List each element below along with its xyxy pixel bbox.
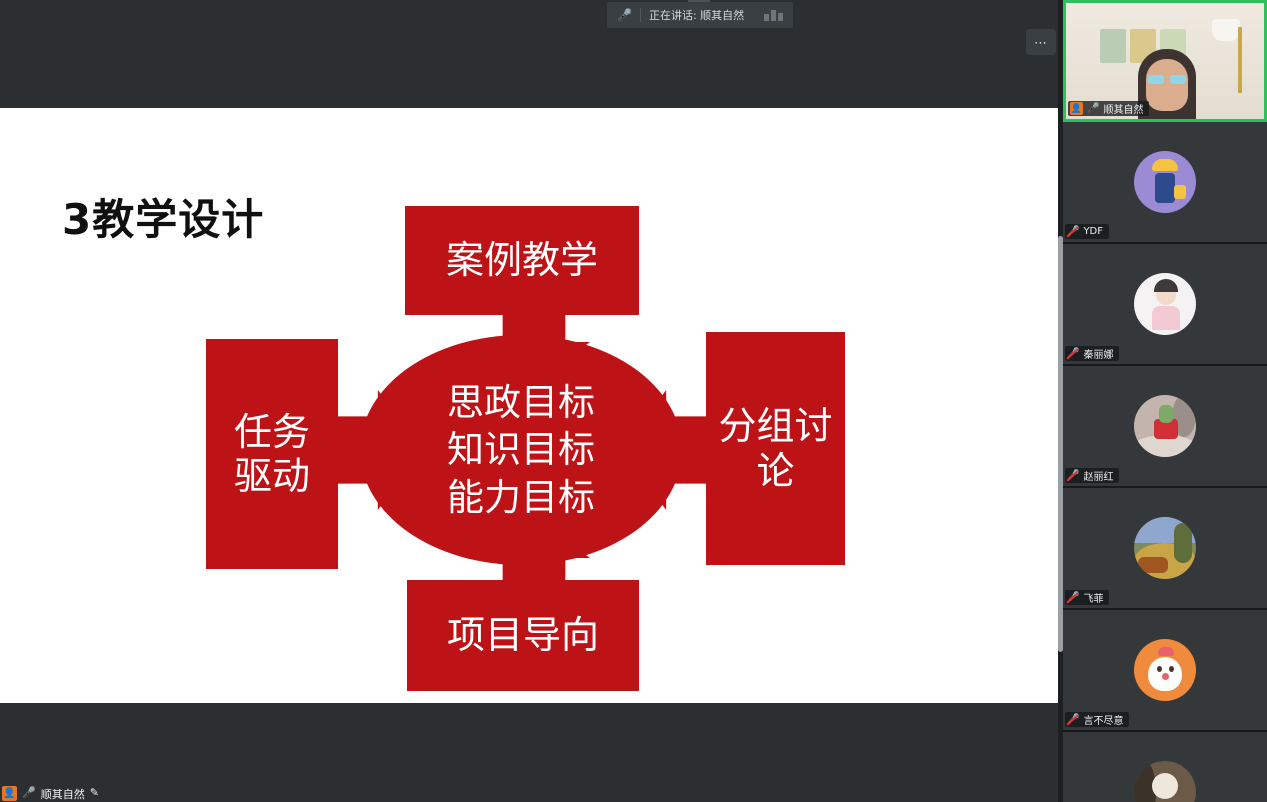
microphone-icon: 🎤 — [617, 9, 632, 21]
speaking-indicator-banner[interactable]: 🎤 正在讲话: 顺其自然 — [607, 2, 793, 28]
diagram-node-top-label: 案例教学 — [446, 238, 598, 282]
participant-tile[interactable]: 🎤 飞菲 — [1063, 488, 1267, 610]
participant-tile[interactable]: 🎤 言不尽意 — [1063, 610, 1267, 732]
participant-name: 言不尽意 — [1083, 712, 1123, 727]
diagram-node-bottom: 项目导向 — [407, 580, 639, 691]
diagram-node-bottom-label: 项目导向 — [447, 613, 599, 657]
diagram-node-top: 案例教学 — [405, 206, 639, 315]
diagram-node-left-label-line1: 任务 — [234, 410, 310, 454]
participant-tile[interactable]: 🎤 YDF — [1063, 122, 1267, 244]
avatar — [1134, 639, 1196, 701]
center-label-line1: 思政目标 — [447, 379, 595, 426]
diagram-node-right-label-line1: 分组讨 — [718, 404, 832, 448]
pencil-icon[interactable]: ✎ — [90, 788, 99, 799]
microphone-icon[interactable]: 🎤 — [22, 788, 36, 799]
participant-name-chip: 🎤 YDF — [1065, 224, 1109, 239]
participant-name-chip: 🎤 秦丽娜 — [1065, 346, 1119, 361]
diagram-center-ellipse: 思政目标 知识目标 能力目标 — [360, 335, 682, 565]
bottom-dark-band — [0, 703, 1058, 802]
avatar — [1134, 151, 1196, 213]
participant-name-chip: 👤 🎤 顺其自然 — [1068, 101, 1149, 116]
participant-name: YDF — [1083, 226, 1103, 237]
participant-tile[interactable]: 🎤 赵丽红 — [1063, 366, 1267, 488]
microphone-muted-icon: 🎤 — [1067, 349, 1079, 359]
divider — [640, 8, 641, 22]
avatar — [1134, 273, 1196, 335]
diagram-node-right: 分组讨 论 — [706, 332, 845, 565]
speaking-label: 正在讲话: 顺其自然 — [649, 7, 744, 23]
presentation-slide: 3教学设计 案例教学 项目导向 任务 驱动 — [0, 108, 1058, 703]
diagram-node-left-label-line2: 驱动 — [234, 454, 310, 498]
participant-name: 顺其自然 — [1103, 101, 1143, 116]
avatar — [1134, 517, 1196, 579]
avatar — [1134, 395, 1196, 457]
person-icon: 👤 — [1070, 102, 1083, 115]
teaching-design-diagram: 案例教学 项目导向 任务 驱动 分组讨 论 — [180, 198, 880, 698]
participant-name: 赵丽红 — [1083, 468, 1113, 483]
participant-tile-active[interactable]: 👤 🎤 顺其自然 — [1063, 0, 1267, 122]
shared-screen-region: 🎤 正在讲话: 顺其自然 ⋯ 3教学设计 案例教学 项目导向 — [0, 0, 1058, 802]
person-icon: 👤 — [2, 786, 17, 801]
self-participant-bar[interactable]: 👤 🎤 顺其自然 ✎ — [0, 785, 99, 802]
diagram-node-left: 任务 驱动 — [206, 339, 338, 569]
self-participant-name: 顺其自然 — [41, 786, 85, 802]
audio-waveform-icon — [764, 10, 783, 21]
participant-tile-partial[interactable]: 🎤 — [1063, 732, 1267, 802]
participant-name: 秦丽娜 — [1083, 346, 1113, 361]
participant-strip[interactable]: 👤 🎤 顺其自然 🎤 YDF 🎤 秦丽娜 — [1063, 0, 1267, 802]
participant-name-chip: 🎤 赵丽红 — [1065, 468, 1119, 483]
more-options-button[interactable]: ⋯ — [1026, 29, 1056, 55]
microphone-muted-icon: 🎤 — [1067, 227, 1079, 237]
avatar — [1134, 761, 1196, 802]
microphone-icon: 🎤 — [1087, 104, 1099, 114]
microphone-muted-icon: 🎤 — [1067, 715, 1079, 725]
microphone-muted-icon: 🎤 — [1067, 471, 1079, 481]
participant-name-chip: 🎤 言不尽意 — [1065, 712, 1129, 727]
microphone-muted-icon: 🎤 — [1067, 593, 1079, 603]
participant-name-chip: 🎤 飞菲 — [1065, 590, 1109, 605]
center-label-line2: 知识目标 — [447, 426, 595, 473]
meeting-screen-share-window: 🎤 正在讲话: 顺其自然 ⋯ 3教学设计 案例教学 项目导向 — [0, 0, 1267, 802]
participant-name: 飞菲 — [1083, 590, 1103, 605]
center-label-line3: 能力目标 — [447, 474, 595, 521]
diagram-node-right-label-line2: 论 — [718, 449, 832, 493]
top-dark-band — [0, 0, 1058, 108]
participant-tile[interactable]: 🎤 秦丽娜 — [1063, 244, 1267, 366]
